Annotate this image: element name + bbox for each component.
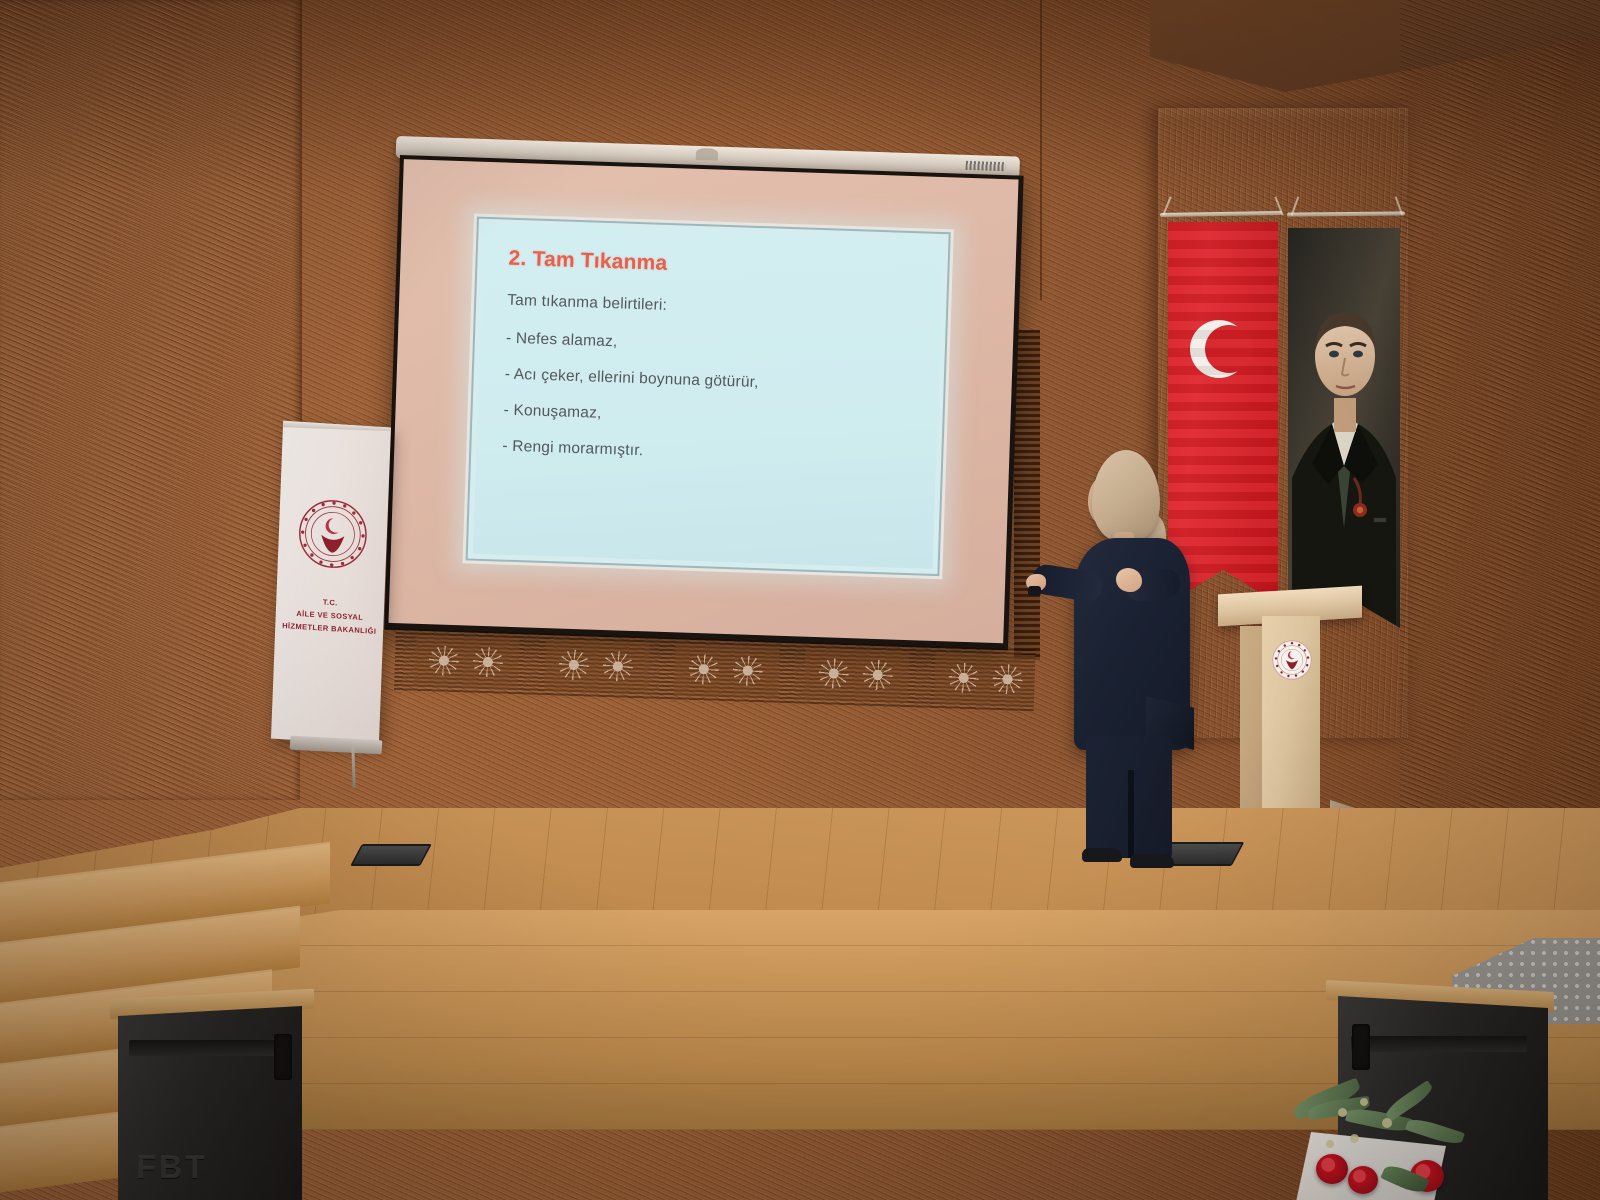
projected-slide: 2. Tam Tıkanma Tam tıkanma belirtileri: … (462, 213, 953, 579)
screen-roller-knob (696, 148, 718, 161)
female-presenter (1030, 450, 1200, 870)
floral-motif-tile (414, 635, 520, 690)
floral-motif-tile (934, 652, 1036, 707)
slide-lead-text: Tam tıkanma belirtileri: (507, 292, 921, 324)
presenter-leg-gap (1128, 770, 1134, 858)
speaker-port-slot (129, 1040, 284, 1056)
slide-content: 2. Tam Tıkanma Tam tıkanma belirtileri: … (473, 224, 944, 569)
hijab (1092, 450, 1160, 542)
slide-border: 2. Tam Tıkanma Tam tıkanma belirtileri: … (466, 217, 951, 577)
speaker-handle (1352, 1024, 1370, 1070)
presenter-shoe-left (1082, 848, 1122, 862)
floral-motif-tile (804, 648, 910, 703)
rollup-banner: T.C. AİLE VE SOSYAL HİZMETLER BAKANLIĞI (271, 421, 391, 746)
right-wall-panel (1400, 0, 1600, 950)
ministry-emblem-icon (296, 496, 371, 572)
screen-brand-badge (966, 161, 1006, 171)
screen-fabric: 2. Tam Tıkanma Tam tıkanma belirtileri: … (388, 159, 1018, 643)
bouquet-filler (1382, 1118, 1392, 1128)
fbt-speaker-left: FBT (118, 1006, 302, 1200)
slide-bullet-4: - Rengi morarmıştır. (502, 438, 916, 470)
red-rose (1348, 1166, 1378, 1194)
slide-bullet-3: - Konuşamaz, (503, 402, 917, 434)
bouquet-filler (1350, 1134, 1359, 1143)
wall-seam-mid (1040, 0, 1042, 300)
presenter-right-hand (1116, 568, 1142, 592)
red-rose (1316, 1154, 1348, 1184)
ataturk-portrait-illustration (1288, 228, 1400, 628)
speaker-handle (274, 1034, 292, 1080)
slide-bullet-2: - Acı çeker, ellerini boynuna götürür, (504, 366, 918, 398)
rollup-text-block: T.C. AİLE VE SOSYAL HİZMETLER BAKANLIĞI (275, 593, 384, 639)
presenter-shoe-right (1130, 854, 1174, 868)
crescent-icon (1190, 320, 1248, 378)
slide-title: 2. Tam Tıkanma (508, 247, 923, 285)
lectern-emblem-icon (1272, 640, 1312, 680)
presenter-remote-icon[interactable] (1028, 586, 1041, 596)
speaker-port-slot (1351, 1036, 1527, 1052)
speaker-brand-label: FBT (136, 1149, 207, 1186)
projection-screen: 2. Tam Tıkanma Tam tıkanma belirtileri: … (384, 155, 1023, 650)
floral-motif-tile (674, 643, 780, 698)
bouquet-filler (1360, 1098, 1368, 1106)
rose-bouquet (1286, 1078, 1536, 1200)
floral-motif-tile (544, 639, 650, 694)
ataturk-portrait-banner (1288, 228, 1400, 628)
bouquet-filler (1338, 1108, 1347, 1117)
slide-bullet-1: - Nefes alamaz, (506, 330, 920, 362)
left-wall-panel (0, 0, 300, 800)
bouquet-leaf (1383, 1080, 1436, 1122)
conference-hall-scene: 2. Tam Tıkanma Tam tıkanma belirtileri: … (0, 0, 1600, 1200)
bouquet-filler (1326, 1140, 1334, 1148)
stage-floor-outlet[interactable] (350, 844, 432, 866)
